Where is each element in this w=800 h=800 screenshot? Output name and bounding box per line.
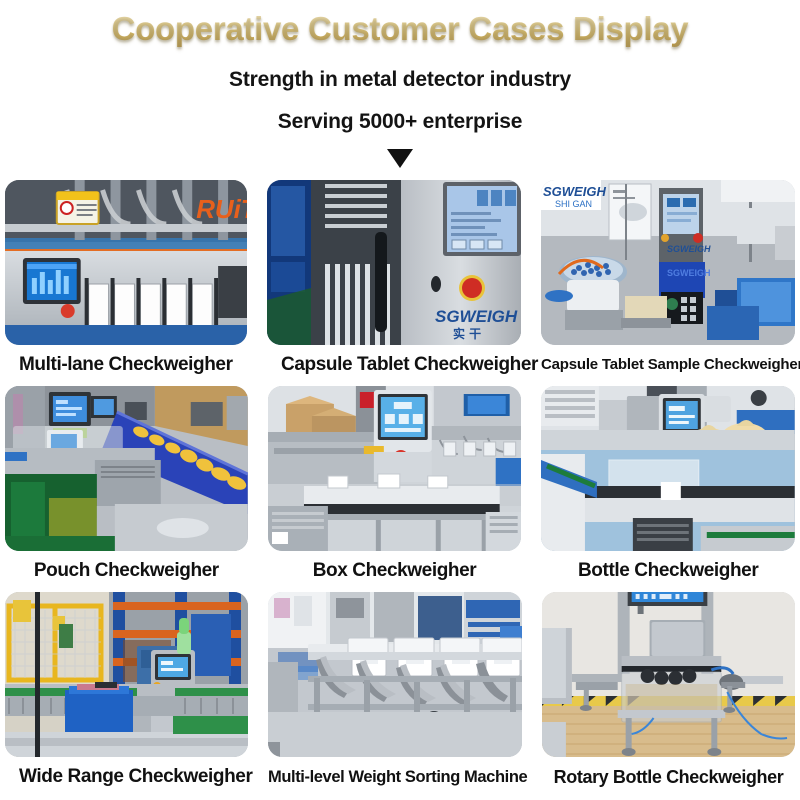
case-card-capsule-tablet-sample-checkweigher[interactable]: SGWEIGH SHI GAN SGWEIGH SGWEIGH — [541, 180, 795, 378]
arrow-container — [0, 149, 800, 173]
booth-brand-text: SGWEIGH — [543, 184, 606, 199]
case-card-pouch-checkweigher[interactable]: Pouch Checkweigher — [5, 386, 248, 584]
gallery-row-3: Wide Range Checkweigher — [5, 592, 795, 790]
svg-text:SGWEIGH: SGWEIGH — [667, 244, 711, 254]
brand-text-sgweigh: SGWEIGH — [435, 307, 518, 326]
case-card-bottle-checkweigher[interactable]: SGWEIGH — [541, 386, 795, 584]
case-photo-rotary-bottle-checkweigher[interactable] — [542, 592, 795, 757]
subtitle-line-1: Strength in metal detector industry — [0, 63, 800, 97]
page-title: Cooperative Customer Cases Display — [0, 6, 800, 52]
case-photo-pouch-checkweigher[interactable] — [5, 386, 248, 551]
triangle-down-icon — [387, 149, 413, 168]
case-caption-wide-range-checkweigher: Wide Range Checkweigher — [5, 764, 248, 790]
case-card-wide-range-checkweigher[interactable]: Wide Range Checkweigher — [5, 592, 248, 790]
case-caption-multi-level-weight-sorting-machine: Multi-level Weight Sorting Machine — [268, 764, 522, 790]
case-caption-rotary-bottle-checkweigher: Rotary Bottle Checkweigher — [542, 764, 795, 790]
svg-text:SGWEIGH: SGWEIGH — [667, 268, 711, 278]
case-photo-bottle-checkweigher[interactable]: SGWEIGH — [541, 386, 795, 551]
case-gallery: RUiT — [5, 180, 795, 798]
case-caption-capsule-tablet-sample-checkweigher: Capsule Tablet Sample Checkweigher — [541, 352, 795, 378]
subtitle-line-2: Serving 5000+ enterprise — [0, 105, 800, 139]
case-card-capsule-tablet-checkweigher[interactable]: SGWEIGH 实 干 Capsule Tablet Checkweigher — [267, 180, 521, 378]
case-card-box-checkweigher[interactable]: Box Checkweigher — [268, 386, 522, 584]
case-photo-multi-lane-checkweigher[interactable]: RUiT — [5, 180, 247, 345]
case-caption-pouch-checkweigher: Pouch Checkweigher — [5, 558, 248, 584]
gallery-row-1: RUiT — [5, 180, 795, 378]
case-photo-wide-range-checkweigher[interactable] — [5, 592, 248, 757]
case-photo-multi-level-weight-sorting-machine[interactable] — [268, 592, 522, 757]
page-header: Cooperative Customer Cases Display Stren… — [0, 0, 800, 173]
case-card-multi-lane-checkweigher[interactable]: RUiT — [5, 180, 247, 378]
case-card-rotary-bottle-checkweigher[interactable]: Rotary Bottle Checkweigher — [542, 592, 795, 790]
case-caption-box-checkweigher: Box Checkweigher — [268, 558, 522, 584]
case-photo-box-checkweigher[interactable] — [268, 386, 522, 551]
case-caption-capsule-tablet-checkweigher: Capsule Tablet Checkweigher — [267, 352, 521, 378]
brand-text-ruit: RUiT — [196, 196, 247, 224]
booth-brand-subtext: SHI GAN — [555, 199, 592, 209]
gallery-row-2: Pouch Checkweigher — [5, 386, 795, 584]
case-photo-capsule-tablet-checkweigher[interactable]: SGWEIGH 实 干 — [267, 180, 521, 345]
brand-subtext-shigan: 实 干 — [453, 326, 481, 341]
case-caption-bottle-checkweigher: Bottle Checkweigher — [541, 558, 795, 584]
case-caption-multi-lane-checkweigher: Multi-lane Checkweigher — [5, 352, 247, 378]
case-photo-capsule-tablet-sample-checkweigher[interactable]: SGWEIGH SHI GAN SGWEIGH SGWEIGH — [541, 180, 795, 345]
case-card-multi-level-weight-sorting-machine[interactable]: Multi-level Weight Sorting Machine — [268, 592, 522, 790]
